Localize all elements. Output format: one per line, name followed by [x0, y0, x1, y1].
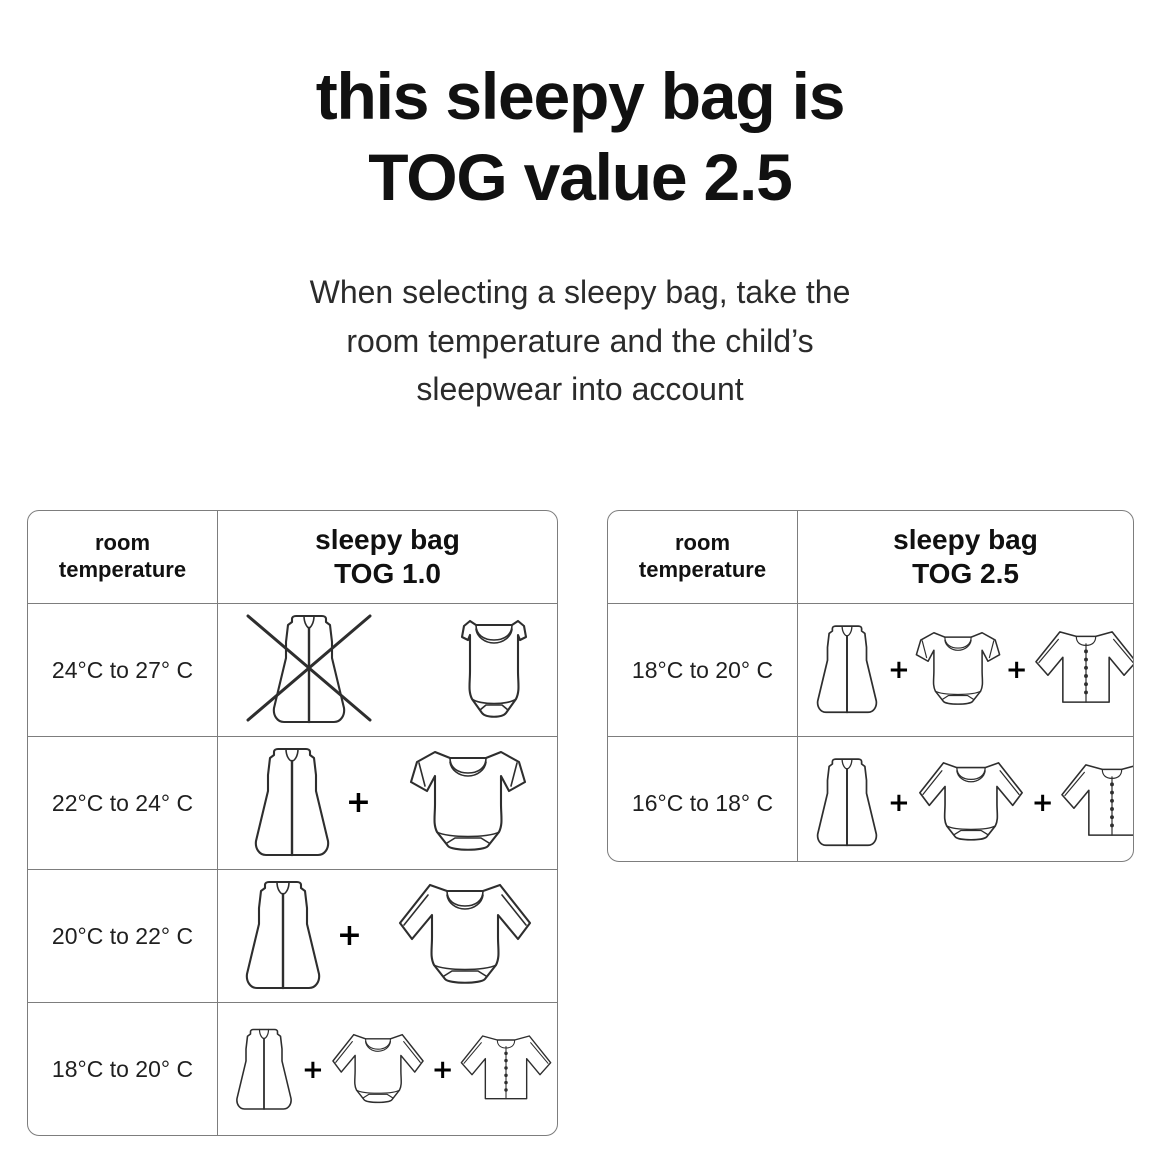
table-header-row: room temperature sleepy bag TOG 1.0 — [28, 511, 557, 603]
cardigan-icon — [1030, 625, 1134, 715]
page-title: this sleepy bag is TOG value 2.5 — [0, 56, 1160, 217]
sleeping-bag-crossed-out-icon — [234, 612, 384, 728]
sleeping-bag-icon — [228, 1018, 300, 1122]
cardigan-icon — [456, 1030, 556, 1110]
plus-symbol: + — [1030, 790, 1056, 816]
temperature-label: 18°C to 20° C — [52, 1056, 193, 1083]
header-cell-room-temperature: room temperature — [608, 511, 798, 603]
garment-cell: + + — [798, 737, 1134, 862]
header-cell-sleepy-bag: sleepy bag TOG 1.0 — [218, 511, 557, 603]
temperature-label: 20°C to 22° C — [52, 923, 193, 950]
plus-symbol: + — [331, 921, 368, 951]
temperature-cell: 18°C to 20° C — [28, 1003, 218, 1136]
table-row: 22°C to 24° C + — [28, 736, 557, 869]
bodysuit-long-sleeve-icon — [326, 1026, 430, 1114]
page-subtitle: When selecting a sleepy bag, take the ro… — [230, 268, 930, 414]
temperature-label: 24°C to 27° C — [52, 657, 193, 684]
page-subtitle-line-3: sleepwear into account — [230, 365, 930, 414]
bodysuit-short-sleeve-icon — [912, 620, 1004, 720]
table-row: 18°C to 20° C + — [28, 1002, 557, 1136]
temperature-label: 22°C to 24° C — [52, 790, 193, 817]
garment-cell: + + — [798, 604, 1134, 736]
sleeping-bag-icon — [244, 745, 340, 861]
header-room-line-1: room — [639, 530, 766, 557]
bodysuit-long-sleeve-icon — [390, 879, 540, 993]
plus-symbol: + — [1004, 657, 1030, 683]
header-room-line-1: room — [59, 530, 186, 557]
table-row: 20°C to 22° C + — [28, 869, 557, 1002]
temperature-cell: 20°C to 22° C — [28, 870, 218, 1002]
garment-cell: + — [218, 870, 557, 1002]
garment-cell: + + — [218, 1003, 558, 1136]
plus-symbol: + — [430, 1057, 456, 1083]
page-title-line-1: this sleepy bag is — [0, 56, 1160, 137]
temperature-cell: 22°C to 24° C — [28, 737, 218, 869]
bodysuit-long-sleeve-icon — [912, 754, 1030, 852]
header-bag-line-1: sleepy bag — [893, 523, 1038, 557]
sleeping-bag-icon — [808, 748, 886, 858]
header-bag-line-1: sleepy bag — [315, 523, 460, 557]
sleeping-bag-icon — [808, 615, 886, 725]
header-room-line-2: temperature — [639, 557, 766, 584]
plus-symbol: + — [300, 1057, 326, 1083]
garment-cell — [218, 604, 557, 736]
bodysuit-sleeveless-icon — [446, 613, 542, 727]
cardigan-icon — [1056, 758, 1134, 848]
header-cell-room-temperature: room temperature — [28, 511, 218, 603]
table-row: 18°C to 20° C + — [608, 603, 1133, 736]
tog-1-0-table: room temperature sleepy bag TOG 1.0 24°C… — [27, 510, 558, 1136]
table-row: 24°C to 27° C — [28, 603, 557, 736]
temperature-cell: 18°C to 20° C — [608, 604, 798, 736]
plus-symbol: + — [340, 788, 377, 818]
garment-cell: + — [218, 737, 557, 869]
header-bag-line-2: TOG 1.0 — [315, 557, 460, 591]
table-row: 16°C to 18° C + — [608, 736, 1133, 862]
page-subtitle-line-1: When selecting a sleepy bag, take the — [230, 268, 930, 317]
temperature-cell: 24°C to 27° C — [28, 604, 218, 736]
bodysuit-short-sleeve-icon — [405, 746, 531, 860]
header-cell-sleepy-bag: sleepy bag TOG 2.5 — [798, 511, 1133, 603]
tog-2-5-table: room temperature sleepy bag TOG 2.5 18°C… — [607, 510, 1134, 862]
tog-guide-page: this sleepy bag is TOG value 2.5 When se… — [0, 0, 1160, 1160]
temperature-label: 16°C to 18° C — [632, 790, 773, 817]
temperature-cell: 16°C to 18° C — [608, 737, 798, 862]
sleeping-bag-icon — [235, 878, 331, 994]
table-header-row: room temperature sleepy bag TOG 2.5 — [608, 511, 1133, 603]
page-title-line-2: TOG value 2.5 — [0, 137, 1160, 218]
plus-symbol: + — [886, 790, 912, 816]
header-room-line-2: temperature — [59, 557, 186, 584]
page-subtitle-line-2: room temperature and the child’s — [230, 317, 930, 366]
temperature-label: 18°C to 20° C — [632, 657, 773, 684]
header-bag-line-2: TOG 2.5 — [893, 557, 1038, 591]
plus-symbol: + — [886, 657, 912, 683]
